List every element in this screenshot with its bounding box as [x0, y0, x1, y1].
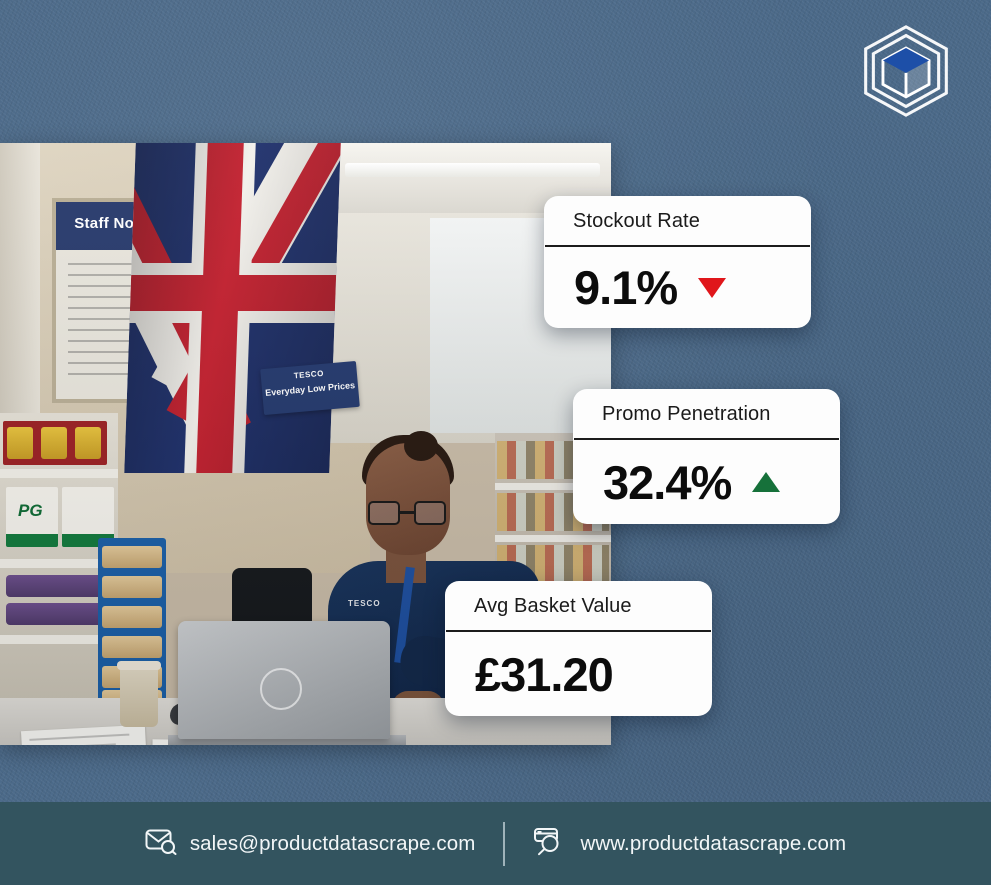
metric-card-value: £31.20 — [475, 651, 613, 698]
envelope-search-icon — [145, 827, 177, 860]
metric-card-stockout-rate[interactable]: Stockout Rate 9.1% — [544, 196, 811, 328]
footer-website-text: www.productdatascrape.com — [580, 832, 846, 856]
metric-card-title: Stockout Rate — [544, 196, 811, 245]
contact-footer-bar: sales@productdatascrape.com www.productd… — [0, 802, 991, 885]
footer-email-item[interactable]: sales@productdatascrape.com — [145, 827, 476, 860]
metric-card-title: Avg Basket Value — [445, 581, 712, 630]
metric-card-avg-basket-value[interactable]: Avg Basket Value £31.20 — [445, 581, 712, 716]
metric-card-title: Promo Penetration — [573, 389, 840, 438]
footer-email-text: sales@productdatascrape.com — [190, 832, 476, 856]
footer-website-item[interactable]: www.productdatascrape.com — [533, 826, 846, 861]
hexagon-cube-logo — [858, 23, 954, 119]
metric-card-promo-penetration[interactable]: Promo Penetration 32.4% — [573, 389, 840, 524]
browser-search-icon — [533, 826, 567, 861]
metric-card-value: 32.4% — [603, 459, 731, 506]
triangle-up-icon — [752, 472, 780, 492]
triangle-down-icon — [698, 278, 726, 298]
footer-divider — [503, 822, 505, 866]
metric-card-value: 9.1% — [574, 264, 677, 311]
